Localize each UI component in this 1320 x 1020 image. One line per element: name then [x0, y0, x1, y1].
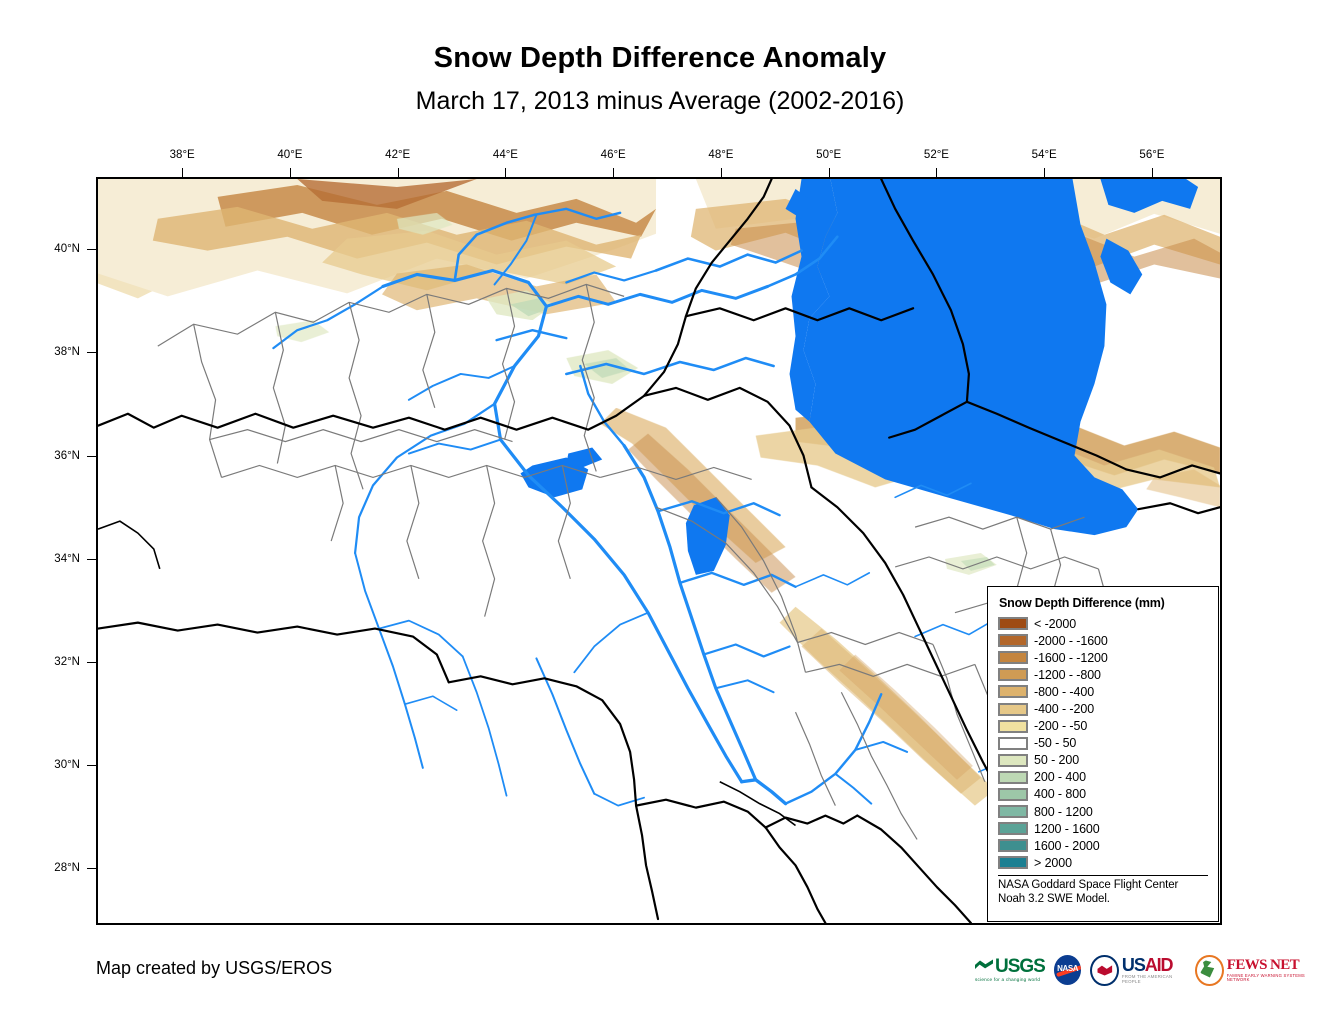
legend-swatch — [998, 737, 1028, 750]
legend-swatch — [998, 754, 1028, 767]
longitude-tick — [182, 168, 183, 177]
fewsnet-logo: FEWS NET FAMINE EARLY WARNING SYSTEMS NE… — [1195, 955, 1320, 986]
legend-swatch — [998, 634, 1028, 647]
usgs-wave-icon — [975, 958, 993, 975]
legend-title: Snow Depth Difference (mm) — [999, 596, 1208, 610]
longitude-tick — [829, 168, 830, 177]
latitude-label: 28°N — [54, 862, 80, 874]
map-credit: Map created by USGS/EROS — [96, 958, 332, 979]
longitude-tick — [505, 168, 506, 177]
longitude-label: 46°E — [601, 149, 626, 161]
fewsnet-wordmark: FEWS NET — [1227, 958, 1320, 973]
longitude-label: 50°E — [816, 149, 841, 161]
legend-row: > 2000 — [998, 854, 1208, 871]
legend-label: -400 - -200 — [1034, 702, 1094, 716]
legend-label: 1200 - 1600 — [1034, 822, 1100, 836]
legend-label: 200 - 400 — [1034, 770, 1086, 784]
latitude-tick — [87, 249, 96, 250]
latitude-label: 30°N — [54, 759, 80, 771]
legend-swatch — [998, 703, 1028, 716]
agency-logos: USGS science for a changing world NASA U… — [975, 950, 1320, 990]
page-subtitle: March 17, 2013 minus Average (2002-2016) — [0, 87, 1320, 116]
usgs-wordmark: USGS — [995, 957, 1045, 976]
legend-row: -1200 - -800 — [998, 666, 1208, 683]
legend-row: < -2000 — [998, 615, 1208, 632]
legend-swatch — [998, 617, 1028, 630]
longitude-label: 44°E — [493, 149, 518, 161]
longitude-tick — [613, 168, 614, 177]
legend-row: 200 - 400 — [998, 769, 1208, 786]
legend-row: 50 - 200 — [998, 752, 1208, 769]
latitude-label: 38°N — [54, 346, 80, 358]
longitude-tick — [1044, 168, 1045, 177]
legend-label: -200 - -50 — [1034, 719, 1087, 733]
usaid-wordmark-aid: AID — [1145, 955, 1173, 975]
legend-row: -200 - -50 — [998, 718, 1208, 735]
fewsnet-tagline: FAMINE EARLY WARNING SYSTEMS NETWORK — [1227, 974, 1320, 982]
legend-row: -800 - -400 — [998, 683, 1208, 700]
legend-row: 1600 - 2000 — [998, 837, 1208, 854]
longitude-tick — [936, 168, 937, 177]
legend-swatch — [998, 720, 1028, 733]
legend-row: 1200 - 1600 — [998, 820, 1208, 837]
latitude-tick — [87, 352, 96, 353]
nasa-wordmark: NASA — [1054, 964, 1081, 973]
longitude-tick — [398, 168, 399, 177]
latitude-tick — [87, 868, 96, 869]
nasa-logo: NASA — [1054, 955, 1081, 985]
legend-note-line-2: Noah 3.2 SWE Model. — [998, 893, 1208, 907]
usaid-wordmark-us: US — [1122, 955, 1145, 975]
legend-label: < -2000 — [1034, 617, 1076, 631]
legend-swatch — [998, 685, 1028, 698]
legend-label: 1600 - 2000 — [1034, 839, 1100, 853]
latitude-label: 34°N — [54, 553, 80, 565]
longitude-tick — [290, 168, 291, 177]
fewsnet-globe-icon — [1195, 955, 1224, 986]
usaid-logo: USAID FROM THE AMERICAN PEOPLE — [1090, 955, 1186, 986]
longitude-label: 56°E — [1139, 149, 1164, 161]
legend-label: -50 - 50 — [1034, 736, 1076, 750]
latitude-label: 36°N — [54, 450, 80, 462]
legend-label: 800 - 1200 — [1034, 805, 1093, 819]
legend-divider — [998, 875, 1208, 876]
legend-label: -1600 - -1200 — [1034, 651, 1108, 665]
latitude-label: 40°N — [54, 243, 80, 255]
legend-row: 400 - 800 — [998, 786, 1208, 803]
legend-swatch — [998, 805, 1028, 818]
longitude-tick — [721, 168, 722, 177]
usaid-seal-icon — [1090, 955, 1119, 986]
latitude-tick — [87, 559, 96, 560]
legend-swatch — [998, 788, 1028, 801]
latitude-tick — [87, 765, 96, 766]
usgs-logo: USGS science for a changing world — [975, 957, 1045, 982]
legend-label: -1200 - -800 — [1034, 668, 1101, 682]
legend-note-line-1: NASA Goddard Space Flight Center — [998, 879, 1208, 893]
legend-swatch — [998, 822, 1028, 835]
usgs-tagline: science for a changing world — [975, 978, 1040, 983]
longitude-label: 38°E — [170, 149, 195, 161]
longitude-label: 48°E — [708, 149, 733, 161]
longitude-label: 54°E — [1032, 149, 1057, 161]
legend-label: 50 - 200 — [1034, 753, 1079, 767]
legend-row: -1600 - -1200 — [998, 649, 1208, 666]
legend-class-list: < -2000-2000 - -1600-1600 - -1200-1200 -… — [998, 615, 1208, 871]
legend-label: -2000 - -1600 — [1034, 634, 1108, 648]
legend-swatch — [998, 651, 1028, 664]
latitude-tick — [87, 662, 96, 663]
longitude-tick — [1152, 168, 1153, 177]
usaid-tagline: FROM THE AMERICAN PEOPLE — [1122, 975, 1186, 984]
legend-swatch — [998, 839, 1028, 852]
longitude-label: 40°E — [277, 149, 302, 161]
legend-label: > 2000 — [1034, 856, 1072, 870]
legend-row: -50 - 50 — [998, 735, 1208, 752]
legend-row: 800 - 1200 — [998, 803, 1208, 820]
legend-row: -400 - -200 — [998, 700, 1208, 717]
legend-swatch — [998, 856, 1028, 869]
longitude-label: 42°E — [385, 149, 410, 161]
legend-label: 400 - 800 — [1034, 787, 1086, 801]
legend-swatch — [998, 771, 1028, 784]
latitude-tick — [87, 456, 96, 457]
latitude-label: 32°N — [54, 656, 80, 668]
legend-label: -800 - -400 — [1034, 685, 1094, 699]
legend-swatch — [998, 668, 1028, 681]
map-legend: Snow Depth Difference (mm) < -2000-2000 … — [987, 586, 1219, 922]
page-title: Snow Depth Difference Anomaly — [0, 42, 1320, 75]
longitude-label: 52°E — [924, 149, 949, 161]
legend-row: -2000 - -1600 — [998, 632, 1208, 649]
